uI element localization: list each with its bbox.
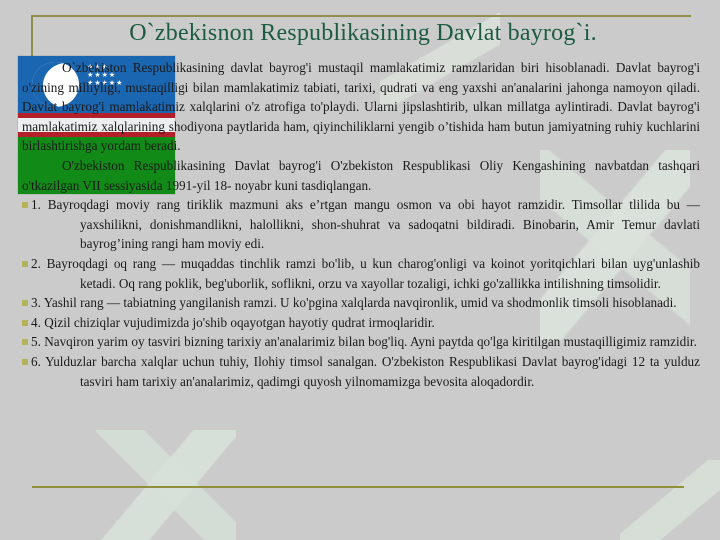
square-bullet-icon xyxy=(22,339,28,345)
top-rule xyxy=(31,15,691,17)
bottom-rule xyxy=(32,486,684,488)
square-bullet-icon xyxy=(22,202,28,208)
watermark-shape-bottom-right xyxy=(620,460,720,540)
list-item-text: 1. Bayroqdagi moviy rang tiriklik mazmun… xyxy=(31,197,700,251)
paragraph-intro: O`zbekiston Respublikasining davlat bayr… xyxy=(22,58,700,156)
list-item: 1. Bayroqdagi moviy rang tiriklik mazmun… xyxy=(22,195,700,254)
list-item: 6. Yulduzlar barcha xalqlar uchun tuhiy,… xyxy=(22,352,700,391)
list-item-text: 2. Bayroqdagi oq rang — muqaddas tinchli… xyxy=(31,256,700,291)
watermark-shape-bottom-left xyxy=(96,430,236,540)
paragraph-approval: O'zbekiston Respublikasining Davlat bayr… xyxy=(22,156,700,195)
list-item: 5. Navqiron yarim oy tasviri bizning tar… xyxy=(22,332,700,352)
square-bullet-icon xyxy=(22,320,28,326)
square-bullet-icon xyxy=(22,359,28,365)
square-bullet-icon xyxy=(22,300,28,306)
list-item: 4. Qizil chiziqlar vujudimizda jo'shib o… xyxy=(22,313,700,333)
list-item-text: 5. Navqiron yarim oy tasviri bizning tar… xyxy=(31,334,697,349)
list-item-text: 3. Yashil rang — tabiatning yangilanish … xyxy=(31,295,677,310)
list-item-text: 6. Yulduzlar barcha xalqlar uchun tuhiy,… xyxy=(31,354,700,389)
list-item: 2. Bayroqdagi oq rang — muqaddas tinchli… xyxy=(22,254,700,293)
slide-body: O`zbekiston Respublikasining davlat bayr… xyxy=(22,58,700,391)
list-item-text: 4. Qizil chiziqlar vujudimizda jo'shib o… xyxy=(31,315,435,330)
page-title: O`zbekisnon Respublikasining Davlat bayr… xyxy=(40,20,686,47)
list-item: 3. Yashil rang — tabiatning yangilanish … xyxy=(22,293,700,313)
slide-canvas: O`zbekisnon Respublikasining Davlat bayr… xyxy=(0,0,720,540)
square-bullet-icon xyxy=(22,261,28,267)
